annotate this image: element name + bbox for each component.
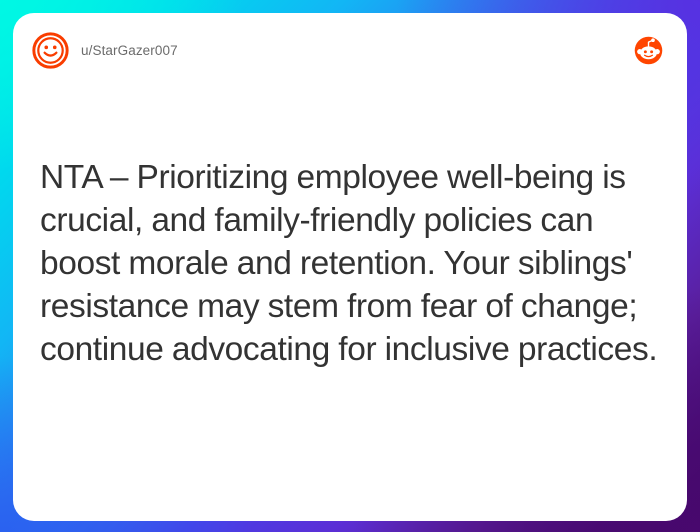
smiley-face-avatar-icon[interactable] <box>32 32 69 69</box>
card-header: u/StarGazer007 <box>13 13 687 87</box>
comment-text: NTA – Prioritizing employee well-being i… <box>40 156 665 371</box>
username-label: u/StarGazer007 <box>81 43 178 58</box>
reddit-snoo-logo-icon[interactable] <box>634 36 663 65</box>
reddit-comment-card: u/StarGazer007 NTA – Prioritizing employ… <box>13 13 687 521</box>
card-body: NTA – Prioritizing employee well-being i… <box>40 156 665 371</box>
